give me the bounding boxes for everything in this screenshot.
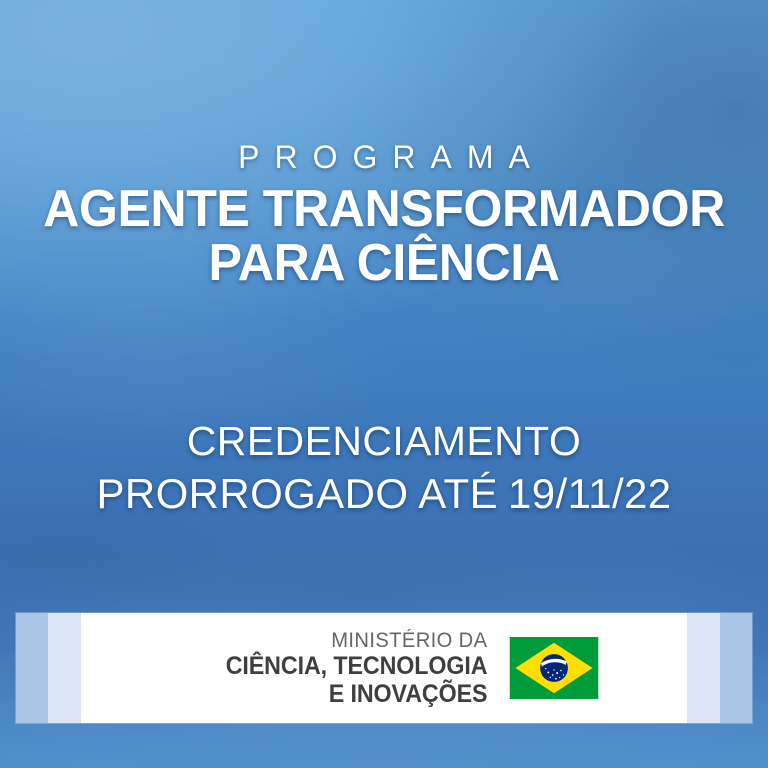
announcement-line-2: PRORROGADO ATÉ19/11/22 xyxy=(0,467,768,521)
program-kicker: PROGRAMA xyxy=(0,140,768,176)
footer-logo-bar: MINISTÉRIO DA CIÊNCIA, TECNOLOGIA E INOV… xyxy=(16,613,752,723)
ministry-logo-line-1: MINISTÉRIO DA xyxy=(218,630,488,651)
program-title-line-1: AGENTE TRANSFORMADOR xyxy=(13,182,754,236)
program-title-line-2: PARA CIÊNCIA xyxy=(13,236,754,290)
announcement-deadline-date: 19/11/22 xyxy=(508,470,672,517)
announcement-line-1: CREDENCIAMENTO xyxy=(0,415,768,467)
decorative-band-left-inner xyxy=(48,613,81,723)
brazil-flag-icon xyxy=(506,637,602,699)
ministry-logo: MINISTÉRIO DA CIÊNCIA, TECNOLOGIA E INOV… xyxy=(206,630,601,707)
decorative-band-left-outer xyxy=(16,613,48,723)
poster-canvas: PROGRAMA AGENTE TRANSFORMADOR PARA CIÊNC… xyxy=(0,0,768,768)
ministry-logo-line-3: E INOVAÇÕES xyxy=(226,682,488,707)
decorative-band-right-inner xyxy=(687,613,720,723)
decorative-band-right-outer xyxy=(720,613,752,723)
ministry-logo-line-2: CIÊNCIA, TECNOLOGIA xyxy=(226,654,488,679)
title-block: PROGRAMA AGENTE TRANSFORMADOR PARA CIÊNC… xyxy=(0,140,768,290)
ministry-logo-text: MINISTÉRIO DA CIÊNCIA, TECNOLOGIA E INOV… xyxy=(206,630,487,707)
announcement-block: CREDENCIAMENTO PRORROGADO ATÉ19/11/22 xyxy=(0,415,768,521)
announcement-deadline-label: PRORROGADO ATÉ xyxy=(96,470,498,517)
